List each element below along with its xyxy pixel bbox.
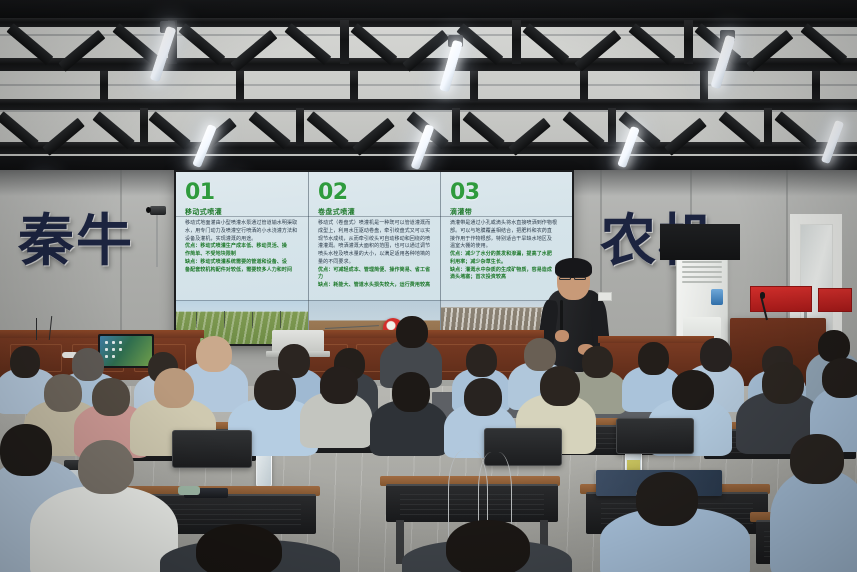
microphone-icon xyxy=(560,300,563,334)
attendee-head xyxy=(822,358,857,398)
attendee-head xyxy=(466,344,497,377)
attendee-head xyxy=(254,370,296,410)
slide-number: 01 xyxy=(185,182,301,204)
attendee-head xyxy=(396,316,428,348)
eyeglasses-icon xyxy=(559,277,571,280)
truss-post xyxy=(512,20,521,64)
truss-post xyxy=(812,71,820,101)
truss-post xyxy=(100,71,108,101)
attendee-head xyxy=(320,366,358,404)
attendee-head xyxy=(582,346,613,378)
phone-case xyxy=(178,486,200,495)
eyeglasses-icon xyxy=(574,277,586,280)
attendee-body xyxy=(30,486,178,572)
truss-post xyxy=(608,108,616,146)
attendee-head xyxy=(672,370,714,410)
attendee-head xyxy=(762,362,804,404)
truss-post xyxy=(140,108,148,146)
front-monitor[interactable] xyxy=(98,334,154,368)
chair-back xyxy=(172,430,252,468)
red-banner-sign xyxy=(750,286,812,312)
presenter-hair xyxy=(555,258,592,278)
ac-energy-label-icon xyxy=(711,289,723,305)
attendee-body xyxy=(770,470,857,572)
ceiling-beam xyxy=(0,18,857,27)
attendee-head xyxy=(10,346,40,378)
attendee-head xyxy=(392,372,430,412)
truss-post xyxy=(580,71,588,101)
conference-room-photo: 秦牛 农机 01 移动式喷灌 移动式地面灌由小型喷灌水泵通过管道输水明渠取 水，… xyxy=(0,0,857,572)
attendee-head xyxy=(636,472,698,526)
attendee-head xyxy=(540,366,580,406)
truss-post xyxy=(764,108,772,146)
chair-back xyxy=(616,418,694,454)
attendee-head xyxy=(196,336,232,372)
truss-post xyxy=(236,71,244,101)
ceiling-beam xyxy=(0,99,857,110)
slide-body: 滴灌带是通过小孔或滴头将水直接喷洒到作物根 部。可以与地膜覆盖相结合，把肥料和农… xyxy=(450,220,565,282)
truss-post xyxy=(470,71,478,101)
wall-overhang xyxy=(660,224,740,260)
slide-number: 03 xyxy=(450,182,565,204)
monitor-screen xyxy=(100,336,152,366)
truss-post xyxy=(700,71,708,101)
camera-pole xyxy=(156,215,158,267)
security-camera-icon xyxy=(150,206,166,215)
truss-post xyxy=(350,71,358,101)
attendee-head xyxy=(196,524,282,572)
attendee-head xyxy=(464,378,502,416)
ceiling-truss-structure xyxy=(0,0,857,176)
slide-panel-1: 01 移动式喷灌 移动式地面灌由小型喷灌水泵通过管道输水明渠取 水，用专门动力及… xyxy=(176,172,308,344)
attendee-head xyxy=(700,338,732,372)
presenter-hand xyxy=(555,330,569,342)
led-video-wall[interactable]: 01 移动式喷灌 移动式地面灌由小型喷灌水泵通过管道输水明渠取 水，用专门动力及… xyxy=(176,172,572,344)
slide-body: 移动式（卷盘式）喷灌机是一种既可以管道灌溉而 成型上，利用水压驱动卷盘，牵引绞盘… xyxy=(318,220,433,290)
truss-post xyxy=(684,20,693,64)
attendee-head xyxy=(78,440,134,494)
microphone-head-icon xyxy=(760,292,765,299)
antenna-icon xyxy=(36,318,37,340)
attendee-head xyxy=(790,434,844,484)
attendee-head xyxy=(0,424,52,476)
attendee-head xyxy=(154,368,194,408)
truss-post xyxy=(340,20,349,64)
wall-sign-left: 秦牛 xyxy=(18,196,134,277)
attendee-head xyxy=(638,342,669,375)
attendee-head xyxy=(72,348,104,381)
attendee-head xyxy=(44,374,82,412)
attendee-head xyxy=(92,378,130,416)
attendee-head xyxy=(446,520,530,572)
slide-body: 移动式地面灌由小型喷灌水泵通过管道输水明渠取 水，用专门动力及喷灌空行喷洒的小水… xyxy=(185,220,301,274)
truss-post xyxy=(296,108,304,146)
attendee-head xyxy=(524,338,556,371)
slide-number: 02 xyxy=(318,182,433,204)
truss-post xyxy=(452,108,460,146)
red-banner-sign xyxy=(818,288,852,312)
power-outlet-icon xyxy=(598,292,612,301)
